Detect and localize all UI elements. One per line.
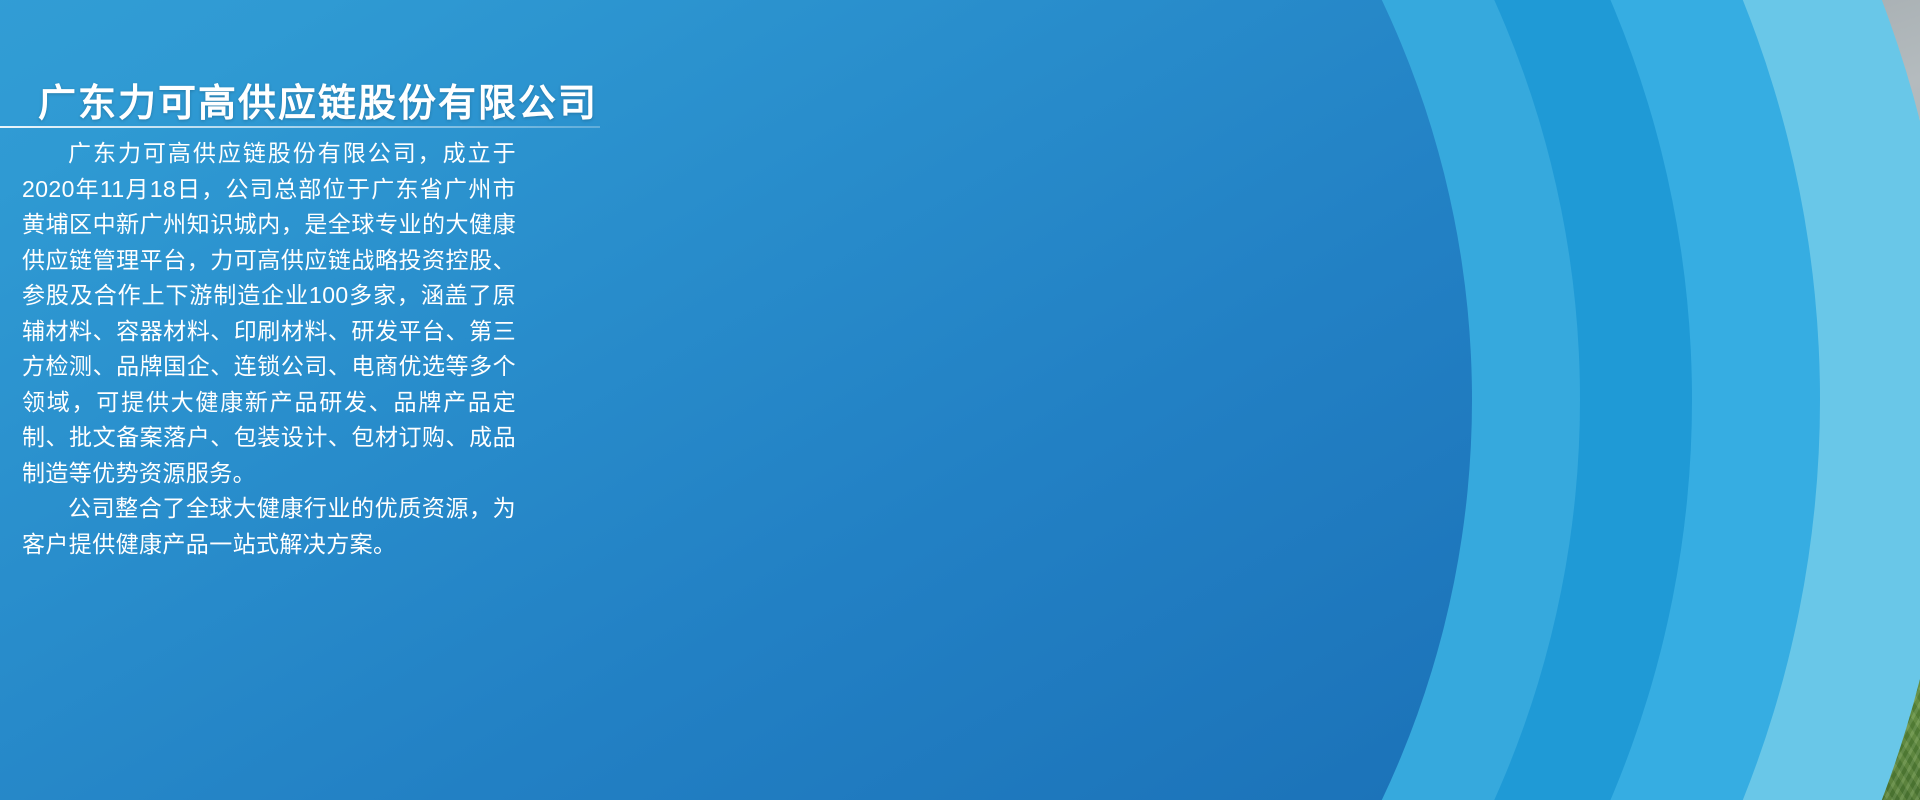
curtain-wall-glass — [1466, 59, 1642, 370]
company-title: 广东力可高供应链股份有限公司 — [38, 81, 598, 129]
tree — [1360, 260, 1386, 286]
tree — [880, 430, 914, 464]
tree — [1190, 600, 1234, 644]
description-paragraph-2: 公司整合了全球大健康行业的优质资源，为客户提供健康产品一站式解决方案。 — [22, 491, 516, 562]
title-divider — [0, 126, 600, 128]
tree — [930, 465, 970, 505]
tree — [985, 505, 1019, 539]
tree — [1420, 240, 1450, 270]
text-panel: 广东力可高供应链股份有限公司 广东力可高供应链股份有限公司，成立于2020年11… — [0, 0, 600, 800]
facility-photo — [760, 0, 1920, 800]
tree — [1230, 560, 1264, 594]
office-tower-secondary — [1450, 0, 1660, 404]
curtain-wall-glass — [1063, 135, 1275, 532]
office-tower-rear-right — [1640, 0, 1820, 349]
banner-stage: 广东力可高供应链股份有限公司 广东力可高供应链股份有限公司，成立于2020年11… — [0, 0, 1920, 800]
office-tower-main — [1045, 53, 1295, 576]
tree — [1045, 545, 1075, 575]
atmospheric-haze — [1280, 520, 1800, 760]
curtain-wall-glass — [1654, 32, 1806, 320]
description-paragraph-1: 广东力可高供应链股份有限公司，成立于2020年11月18日，公司总部位于广东省广… — [22, 136, 516, 491]
company-description: 广东力可高供应链股份有限公司，成立于2020年11月18日，公司总部位于广东省广… — [22, 136, 516, 562]
